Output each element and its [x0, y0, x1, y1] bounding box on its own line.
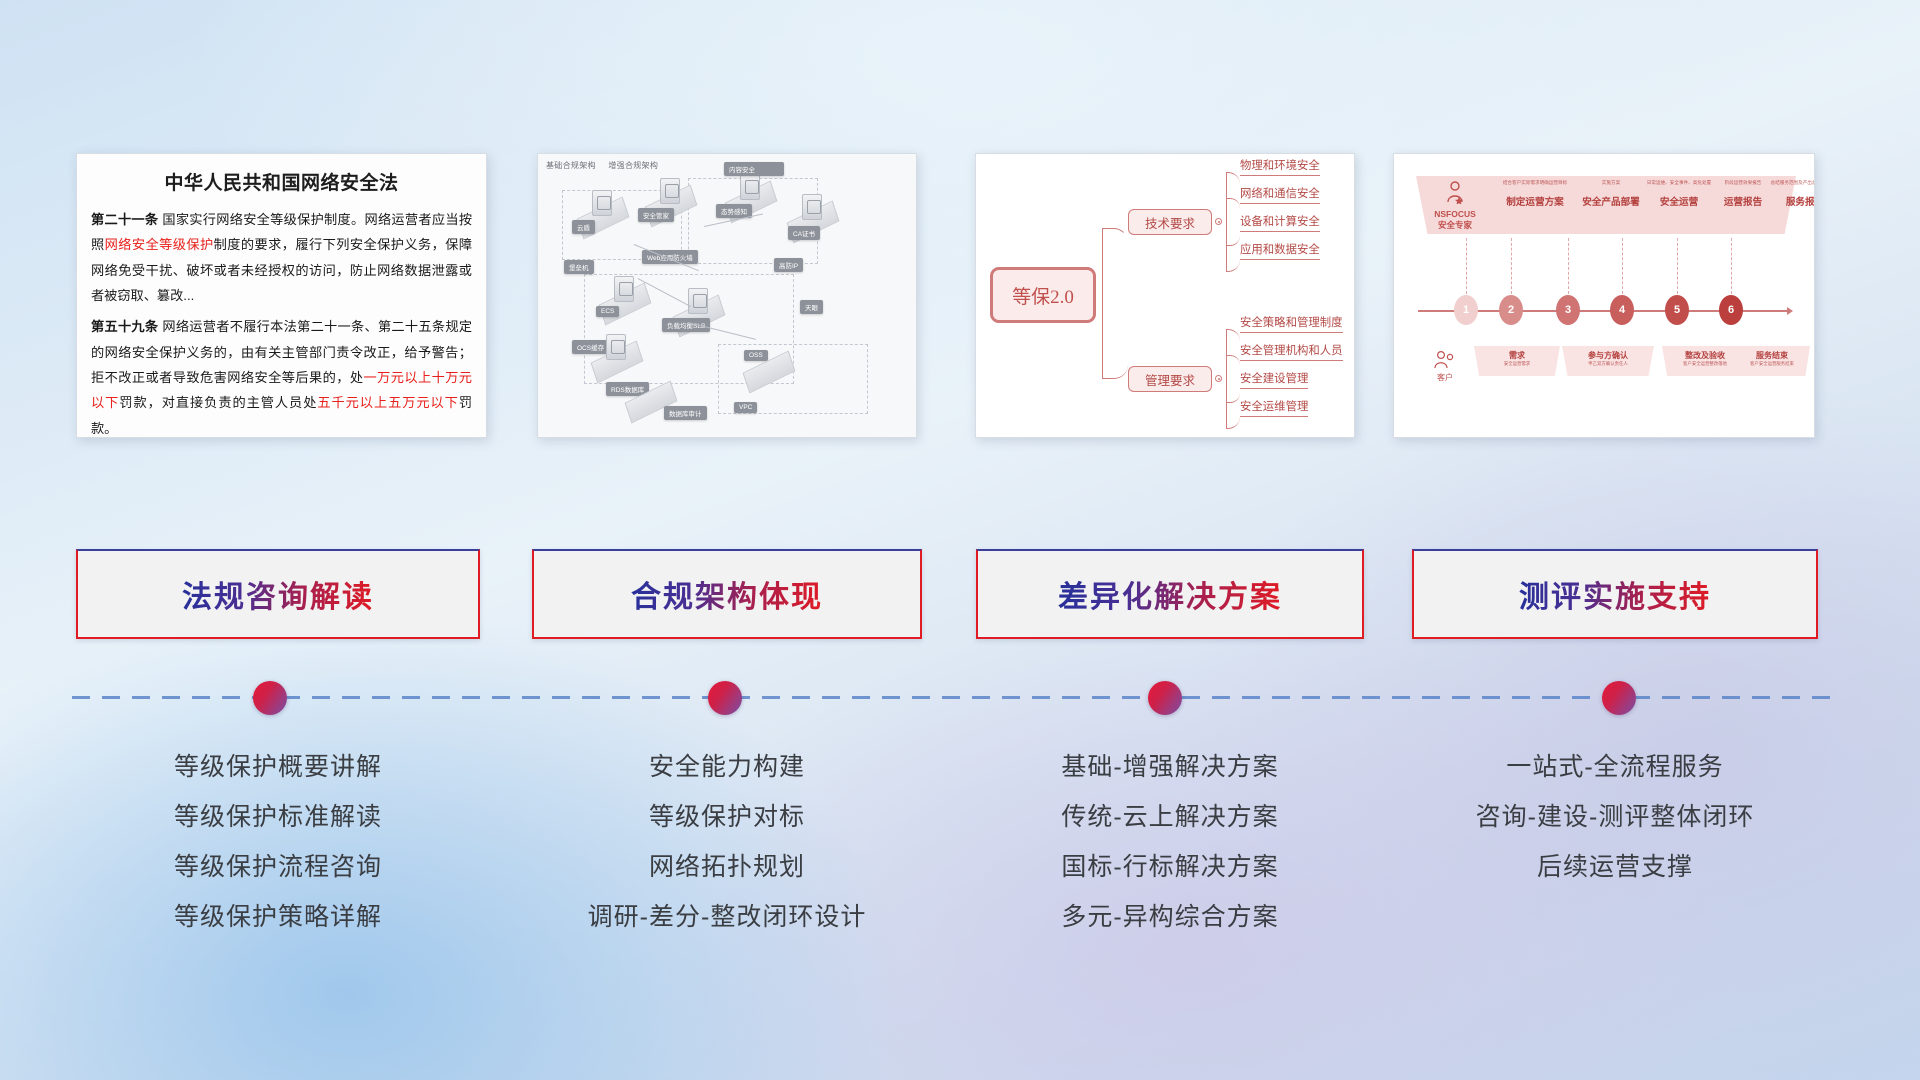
mindmap-connector — [1226, 222, 1240, 272]
service-step-sub: 总结服务范围及产出总体运营效果 — [1770, 180, 1815, 185]
chip-title: 需求 — [1474, 350, 1560, 361]
brand-badge: NSFOCUS 安全专家 — [1424, 180, 1486, 230]
pillar-label-2[interactable]: 合规架构体现 — [532, 549, 922, 639]
card-cloud-architecture: 基础合规架构 增强合规架构 云盾 安全管家 态势感知 CA证书 堡垒机 Web应… — [537, 153, 917, 438]
pillar-item: 后续运营支撑 — [1412, 842, 1818, 892]
pillar-item: 咨询-建设-测评整体闭环 — [1412, 792, 1818, 842]
service-step-header: 实施方案 安全产品部署 — [1578, 180, 1644, 208]
timeline-tick — [1731, 238, 1732, 294]
architecture-node: 安全管家 — [638, 208, 674, 222]
pillar-label-text: 测评实施支持 — [1519, 572, 1711, 616]
timeline-step-number: 3 — [1556, 295, 1580, 325]
timeline-bottom-chip: 参与方确认 甲乙双方确认责任人 — [1562, 346, 1654, 376]
architecture-tab-enhanced: 增强合规架构 — [608, 161, 658, 170]
timeline-tick — [1568, 238, 1569, 294]
architecture-node: VPC — [734, 402, 757, 413]
law-body: 第二十一条 国家实行网络安全等级保护制度。网络运营者应当按照网络安全等级保护制度… — [77, 207, 486, 438]
timeline-bottom-chip: 服务结束 客户安全运营服务结束 — [1734, 346, 1810, 376]
architecture-node: Web应用防火墙 — [642, 250, 698, 264]
mindmap-leaf: 安全建设管理 — [1240, 372, 1308, 389]
architecture-node-icon — [660, 178, 680, 204]
pillar-items-2: 安全能力构建 等级保护对标 网络拓扑规划 调研-差分-整改闭环设计 — [532, 742, 922, 942]
architecture-node-icon — [688, 288, 708, 314]
mindmap-leaf: 设备和计算安全 — [1240, 215, 1320, 232]
timeline-dashed-line — [72, 696, 1842, 699]
architecture-node: OSS — [744, 350, 768, 361]
chip-title: 参与方确认 — [1562, 350, 1654, 361]
service-step-header: 总结服务范围及产出总体运营效果 服务报告 — [1770, 180, 1815, 208]
law-text: 罚款，对直接负责的主管人员处 — [119, 395, 317, 410]
client-icon — [1433, 350, 1457, 370]
pillar-item: 等级保护概要讲解 — [76, 742, 480, 792]
mindmap-leaf: 物理和环境安全 — [1240, 159, 1320, 176]
mindmap-connector — [1226, 379, 1240, 429]
mindmap-leaf: 网络和通信安全 — [1240, 187, 1320, 204]
architecture-node-icon — [606, 334, 626, 360]
mindmap-branch-management: 管理要求 — [1128, 366, 1212, 392]
law-paragraph: 第二十一条 国家实行网络安全等级保护制度。网络运营者应当按照网络安全等级保护制度… — [91, 207, 472, 308]
service-step-header: 阶段运营效果报告 运营报告 — [1712, 180, 1774, 208]
card-mindmap: 等保2.0 技术要求 管理要求 物理和环境安全 网络和通信安全 设备和计算安全 … — [975, 153, 1355, 438]
pillar-item: 等级保护对标 — [532, 792, 922, 842]
pillar-item: 等级保护标准解读 — [76, 792, 480, 842]
mindmap-collapse-dot[interactable] — [1215, 218, 1222, 225]
architecture-node: ECS — [596, 306, 619, 317]
timeline-step-number: 6 — [1719, 295, 1743, 325]
mindmap-connector — [1102, 294, 1128, 379]
timeline-step-number: 1 — [1454, 295, 1478, 325]
timeline-dot-2[interactable] — [708, 681, 742, 715]
architecture-node: 堡垒机 — [564, 260, 594, 274]
service-step-main: 制定运营方案 — [1492, 194, 1578, 208]
architecture-node: 天眼 — [800, 300, 823, 314]
architecture-node: CA证书 — [788, 226, 820, 240]
architecture-diagram: 基础合规架构 增强合规架构 云盾 安全管家 态势感知 CA证书 堡垒机 Web应… — [538, 154, 916, 437]
pillar-item: 一站式-全流程服务 — [1412, 742, 1818, 792]
mindmap-branch-technical: 技术要求 — [1128, 209, 1212, 235]
architecture-tabs: 基础合规架构 增强合规架构 — [546, 160, 668, 171]
service-step-sub: 日常运维、安全事件、高危处置 — [1640, 180, 1718, 185]
timeline-tick — [1466, 238, 1467, 294]
brand-subtitle: 安全专家 — [1424, 220, 1486, 231]
mindmap-connector — [1226, 355, 1240, 379]
security-expert-icon — [1442, 180, 1468, 204]
law-highlight: 五千元以上五万元以下 — [317, 395, 458, 410]
architecture-node: 云盾 — [572, 220, 595, 234]
pillar-items-4: 一站式-全流程服务 咨询-建设-测评整体闭环 后续运营支撑 — [1412, 742, 1818, 892]
architecture-node-icon — [592, 190, 612, 216]
mindmap-collapse-dot[interactable] — [1215, 375, 1222, 382]
pillar-item: 等级保护流程咨询 — [76, 842, 480, 892]
chip-sub: 甲乙双方确认责任人 — [1562, 361, 1654, 367]
service-step-header: 结合客户实际需求明确运营目标 制定运营方案 — [1492, 180, 1578, 208]
timeline-step-number: 2 — [1499, 295, 1523, 325]
pillar-label-4[interactable]: 测评实施支持 — [1412, 549, 1818, 639]
service-step-main: 服务报告 — [1770, 194, 1815, 208]
mindmap-root-node: 等保2.0 — [990, 267, 1096, 323]
architecture-node: OCS缓存 — [572, 340, 609, 354]
chip-sub: 安全运营需求 — [1474, 361, 1560, 367]
client-badge: 客户 — [1418, 350, 1472, 383]
architecture-tab-basic: 基础合规架构 — [546, 161, 596, 170]
pillar-label-text: 合规架构体现 — [631, 572, 823, 616]
service-step-main: 安全运营 — [1640, 194, 1718, 208]
mindmap-leaf: 安全运维管理 — [1240, 400, 1308, 417]
pillar-label-text: 差异化解决方案 — [1058, 572, 1282, 616]
mindmap-connector — [1102, 228, 1128, 296]
chip-title: 服务结束 — [1734, 350, 1810, 361]
architecture-node: 高防IP — [774, 258, 803, 272]
brand-name: NSFOCUS — [1424, 209, 1486, 220]
mindmap-connector — [1226, 198, 1240, 222]
law-article-number: 第二十一条 — [91, 212, 158, 227]
service-step-sub: 阶段运营效果报告 — [1712, 180, 1774, 185]
chip-sub: 客户安全运营服务结束 — [1734, 361, 1810, 367]
pillar-item: 传统-云上解决方案 — [976, 792, 1364, 842]
timeline-tick — [1677, 238, 1678, 294]
pillar-item: 网络拓扑规划 — [532, 842, 922, 892]
pillar-item: 基础-增强解决方案 — [976, 742, 1364, 792]
timeline-tick — [1622, 238, 1623, 294]
service-timeline-diagram: NSFOCUS 安全专家 结合客户实际需求明确运营目标 制定运营方案 实施方案 … — [1394, 154, 1814, 437]
timeline-step-number: 4 — [1610, 295, 1634, 325]
timeline-step-number: 5 — [1665, 295, 1689, 325]
service-step-sub: 结合客户实际需求明确运营目标 — [1492, 180, 1578, 185]
pillar-label-1[interactable]: 法规咨询解读 — [76, 549, 480, 639]
service-step-sub: 实施方案 — [1578, 180, 1644, 185]
card-service-timeline: NSFOCUS 安全专家 结合客户实际需求明确运营目标 制定运营方案 实施方案 … — [1393, 153, 1815, 438]
mindmap-leaf: 应用和数据安全 — [1240, 243, 1320, 260]
service-step-main: 安全产品部署 — [1578, 194, 1644, 208]
pillar-item: 国标-行标解决方案 — [976, 842, 1364, 892]
service-step-header: 日常运维、安全事件、高危处置 安全运营 — [1640, 180, 1718, 208]
law-highlight: 网络安全等级保护 — [105, 237, 214, 252]
mindmap-leaf: 安全管理机构和人员 — [1240, 344, 1343, 361]
client-label: 客户 — [1418, 372, 1472, 383]
mindmap-diagram: 等保2.0 技术要求 管理要求 物理和环境安全 网络和通信安全 设备和计算安全 … — [976, 154, 1354, 437]
timeline-tick — [1511, 238, 1512, 294]
pillar-item: 安全能力构建 — [532, 742, 922, 792]
architecture-node-icon — [802, 194, 822, 220]
pillar-items-1: 等级保护概要讲解 等级保护标准解读 等级保护流程咨询 等级保护策略详解 — [76, 742, 480, 942]
law-paragraph: 第五十九条 网络运营者不履行本法第二十一条、第二十五条规定的网络安全保护义务的，… — [91, 314, 472, 438]
pillar-item: 等级保护策略详解 — [76, 892, 480, 942]
architecture-node: 内容安全 — [724, 162, 784, 176]
slide-canvas: 中华人民共和国网络安全法 第二十一条 国家实行网络安全等级保护制度。网络运营者应… — [0, 0, 1920, 1080]
card-cybersecurity-law: 中华人民共和国网络安全法 第二十一条 国家实行网络安全等级保护制度。网络运营者应… — [76, 153, 487, 438]
architecture-node-icon — [740, 174, 760, 200]
service-step-main: 运营报告 — [1712, 194, 1774, 208]
pillar-item: 多元-异构综合方案 — [976, 892, 1364, 942]
mindmap-leaf: 安全策略和管理制度 — [1240, 316, 1343, 333]
architecture-node: 数据库审计 — [664, 406, 707, 420]
timeline-dot-4[interactable] — [1602, 681, 1636, 715]
architecture-node-icon — [614, 276, 634, 302]
pillar-label-text: 法规咨询解读 — [182, 572, 374, 616]
law-article-number: 第五十九条 — [91, 319, 158, 334]
pillar-item: 调研-差分-整改闭环设计 — [532, 892, 922, 942]
pillar-items-3: 基础-增强解决方案 传统-云上解决方案 国标-行标解决方案 多元-异构综合方案 — [976, 742, 1364, 942]
timeline-dot-3[interactable] — [1148, 681, 1182, 715]
timeline-bottom-chip: 需求 安全运营需求 — [1474, 346, 1560, 376]
timeline-dot-1[interactable] — [253, 681, 287, 715]
law-title: 中华人民共和国网络安全法 — [77, 168, 486, 195]
chip-sub: 客户安全运营整改落地 — [1662, 361, 1748, 367]
pillar-label-3[interactable]: 差异化解决方案 — [976, 549, 1364, 639]
